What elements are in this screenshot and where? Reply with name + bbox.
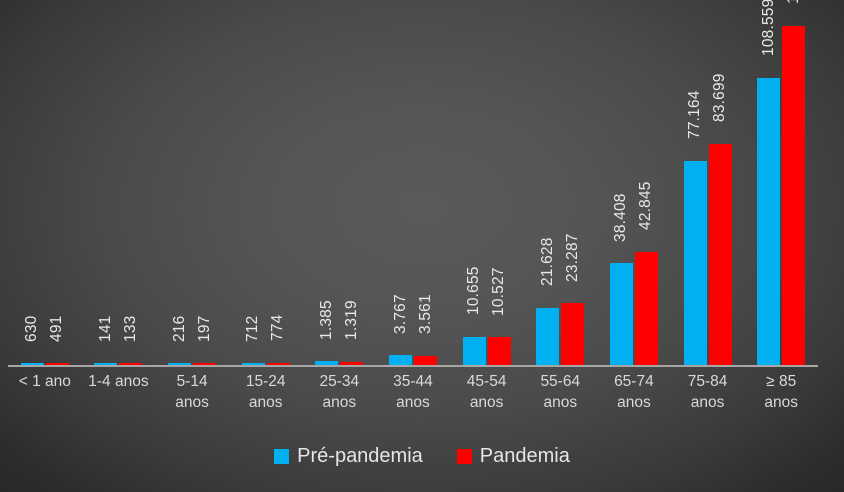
bar-pre[interactable]: 141 (94, 8, 117, 365)
bar-group: 630491 (21, 8, 69, 365)
bar-group: 21.62823.287 (536, 8, 584, 365)
bar-value-label: 197 (197, 315, 213, 341)
bar-value-label: 23.287 (565, 233, 581, 282)
bar-value-label: 3.561 (418, 294, 434, 334)
bar-value-label: 3.767 (393, 294, 409, 334)
bar-pan[interactable]: 491 (46, 8, 69, 365)
bar-rect (463, 337, 486, 365)
bar-group: 712774 (242, 8, 290, 365)
bar-value-label: 216 (172, 315, 188, 341)
category-label: 1-4 anos (82, 371, 156, 392)
legend-label-pandemia: Pandemia (480, 445, 570, 467)
category-label: 65-74 anos (597, 371, 671, 413)
bar-value-label: 10.655 (466, 267, 482, 316)
bar-pre[interactable]: 77.164 (684, 8, 707, 365)
category-axis-labels: < 1 ano1-4 anos5-14 anos15-24 anos25-34 … (8, 371, 818, 429)
bar-rect (709, 144, 732, 365)
bar-pre[interactable]: 630 (21, 8, 44, 365)
bar-rect (610, 263, 633, 365)
bar-value-label: 77.164 (687, 91, 703, 140)
bar-rect (389, 355, 412, 365)
bar-pre[interactable]: 3.767 (389, 8, 412, 365)
bar-rect (536, 308, 559, 365)
bar-value-label: 630 (24, 315, 40, 341)
bar-group: 10.65510.527 (463, 8, 511, 365)
category-label: 25-34 anos (303, 371, 377, 413)
bar-value-label: 774 (270, 315, 286, 341)
bar-value-label: 1.385 (319, 300, 335, 340)
bar-rect (782, 26, 805, 365)
bar-group: 3.7673.561 (389, 8, 437, 365)
bar-value-label: 83.699 (712, 74, 728, 123)
legend-item-pre-pandemia[interactable]: Pré-pandemia (274, 445, 423, 467)
bar-value-label: 133 (123, 315, 139, 341)
bar-pre[interactable]: 108.559 (757, 8, 780, 365)
bar-value-label: 712 (245, 315, 261, 341)
bar-pre[interactable]: 1.385 (315, 8, 338, 365)
bar-pre[interactable]: 216 (168, 8, 191, 365)
bar-group: 141133 (94, 8, 142, 365)
category-label: 45-54 anos (450, 371, 524, 413)
bar-pan[interactable]: 3.561 (414, 8, 437, 365)
bar-value-label: 42.845 (638, 182, 654, 231)
category-label: 35-44 anos (376, 371, 450, 413)
bar-rect (561, 303, 584, 365)
bar-pre[interactable]: 21.628 (536, 8, 559, 365)
legend-label-pre-pandemia: Pré-pandemia (297, 445, 423, 467)
bar-pre[interactable]: 712 (242, 8, 265, 365)
legend-item-pandemia[interactable]: Pandemia (457, 445, 570, 467)
bar-pan[interactable]: 10.527 (488, 8, 511, 365)
bar-value-label: 10.527 (491, 267, 507, 316)
bar-pan[interactable]: 133 (119, 8, 142, 365)
bar-value-label: 141 (98, 315, 114, 341)
bar-rect (757, 78, 780, 365)
bar-pan[interactable]: 42.845 (635, 8, 658, 365)
bar-chart: 6304911411332161977127741.3851.3193.7673… (0, 0, 844, 492)
bar-rect (635, 252, 658, 365)
bar-group: 1.3851.319 (315, 8, 363, 365)
category-axis-line (8, 365, 818, 367)
category-label: 75-84 anos (671, 371, 745, 413)
bar-value-label: 108.559 (761, 0, 777, 56)
bar-value-label: 491 (49, 315, 65, 341)
bar-pan[interactable]: 1.319 (340, 8, 363, 365)
plot-area: 6304911411332161977127741.3851.3193.7673… (8, 8, 818, 365)
bar-value-label: 21.628 (540, 238, 556, 287)
bar-group: 38.40842.845 (610, 8, 658, 365)
bar-pan[interactable]: 197 (193, 8, 216, 365)
bar-group: 77.16483.699 (684, 8, 732, 365)
legend-swatch-pandemia (457, 449, 472, 464)
category-label: 5-14 anos (155, 371, 229, 413)
bar-value-label: 1.319 (344, 300, 360, 340)
bar-rect (414, 356, 437, 365)
bar-pan[interactable]: 83.699 (709, 8, 732, 365)
bar-pan[interactable]: 128.224 (782, 8, 805, 365)
legend-swatch-pre-pandemia (274, 449, 289, 464)
bar-pan[interactable]: 774 (267, 8, 290, 365)
bar-value-label: 128.224 (786, 0, 802, 4)
bar-value-label: 38.408 (613, 193, 629, 242)
bar-pan[interactable]: 23.287 (561, 8, 584, 365)
category-label: 15-24 anos (229, 371, 303, 413)
category-label: 55-64 anos (523, 371, 597, 413)
bar-group: 108.559128.224 (757, 8, 805, 365)
bar-pre[interactable]: 38.408 (610, 8, 633, 365)
bar-rect (488, 337, 511, 365)
category-label: < 1 ano (8, 371, 82, 392)
category-label: ≥ 85 anos (744, 371, 818, 413)
bar-rect (684, 161, 707, 365)
chart-legend: Pré-pandemia Pandemia (0, 445, 844, 467)
bar-pre[interactable]: 10.655 (463, 8, 486, 365)
bar-group: 216197 (168, 8, 216, 365)
